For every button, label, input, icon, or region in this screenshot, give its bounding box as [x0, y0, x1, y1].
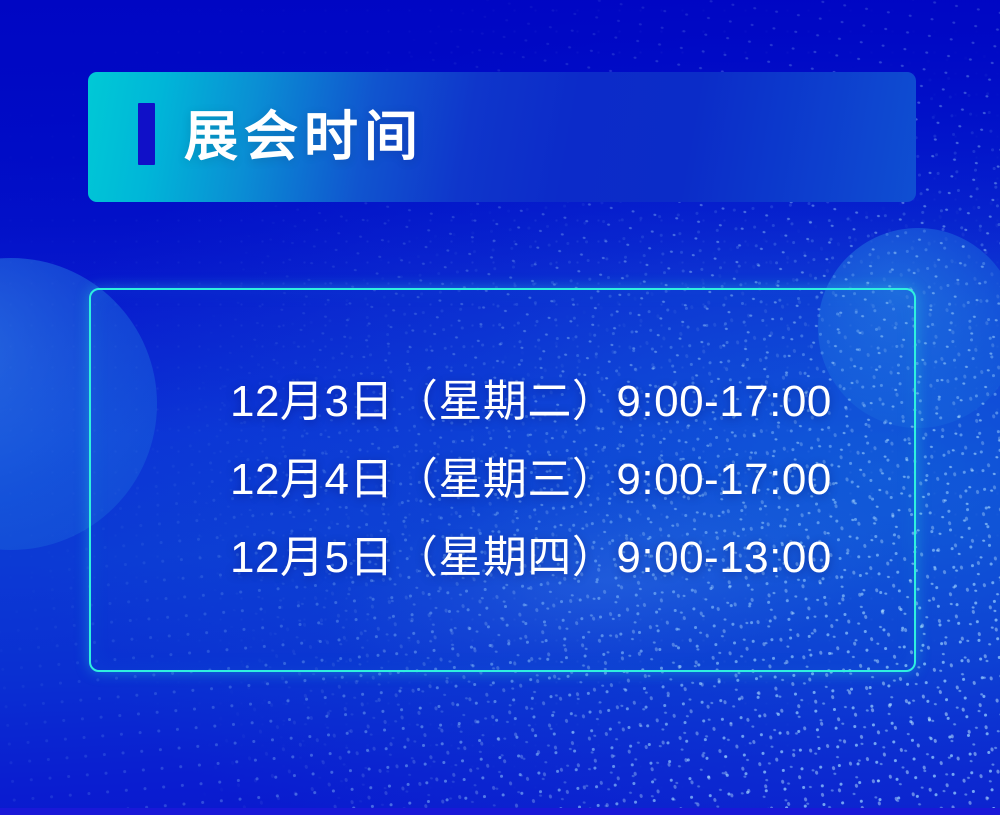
- schedule-card: 12月3日（星期二）9:00-17:00 12月4日（星期三）9:00-17:0…: [89, 288, 916, 672]
- schedule-line: 12月5日（星期四）9:00-13:00: [230, 519, 832, 597]
- header-banner: 展会时间: [88, 72, 916, 202]
- header-accent-bar: [138, 103, 155, 165]
- schedule-line: 12月3日（星期二）9:00-17:00: [230, 363, 832, 441]
- page-title: 展会时间: [184, 72, 424, 202]
- bottom-edge-strip: [0, 808, 1000, 815]
- schedule-line: 12月4日（星期三）9:00-17:00: [230, 441, 832, 519]
- poster-canvas: 展会时间 12月3日（星期二）9:00-17:00 12月4日（星期三）9:00…: [0, 0, 1000, 815]
